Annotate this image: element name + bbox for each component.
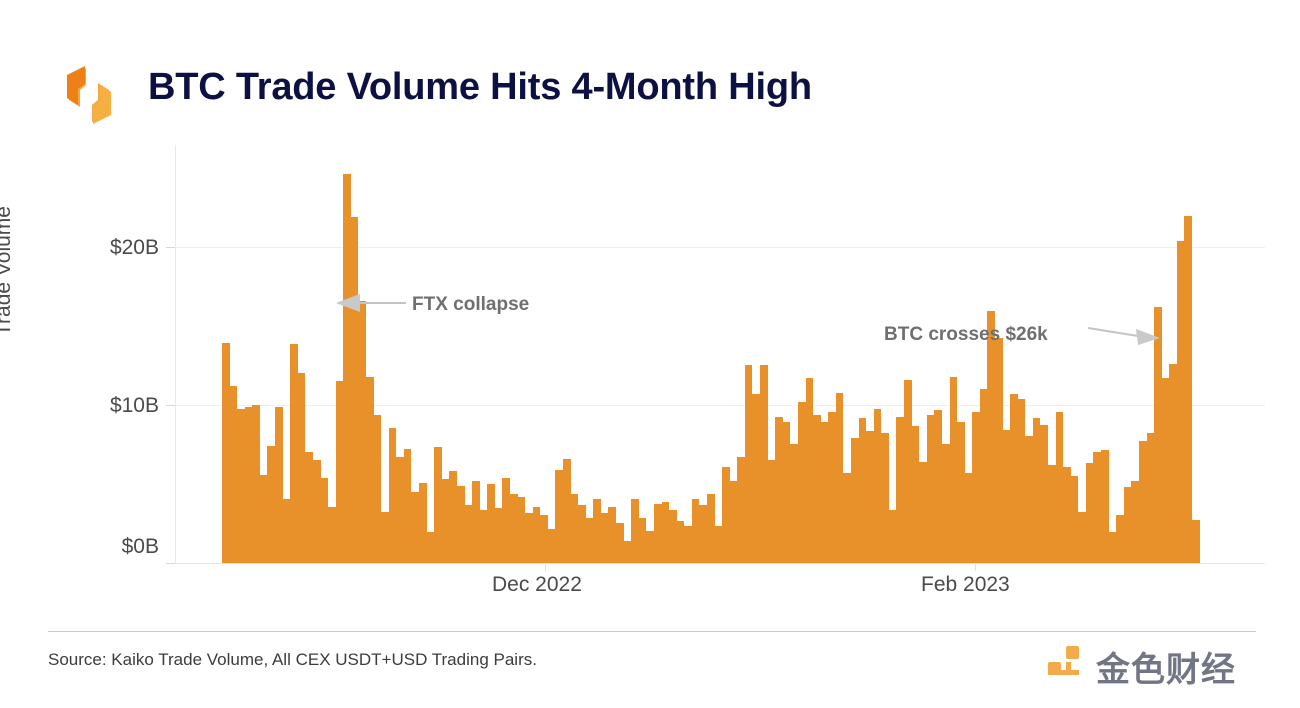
bar xyxy=(1078,512,1086,563)
bar xyxy=(1101,450,1109,563)
bar xyxy=(828,412,836,563)
bar xyxy=(919,462,927,563)
bar xyxy=(419,483,427,563)
bar xyxy=(1139,441,1147,563)
bar xyxy=(737,457,745,563)
bar xyxy=(237,409,245,563)
bar xyxy=(283,499,291,563)
bar xyxy=(1154,307,1162,563)
annotation-btc-crosses-26k: BTC crosses $26k xyxy=(884,324,1048,346)
bar xyxy=(533,507,541,563)
bar xyxy=(351,217,359,563)
bar xyxy=(851,438,859,563)
bar xyxy=(639,518,647,563)
bar xyxy=(449,471,457,563)
bar xyxy=(1177,241,1185,563)
bar xyxy=(646,531,654,563)
bar xyxy=(548,529,556,563)
bar xyxy=(495,508,503,563)
bar xyxy=(1124,487,1132,563)
chart-container: $20B $10B $0B Trade Volume Dec 2022 Feb … xyxy=(0,140,1300,610)
xtick-mark-dec2022 xyxy=(545,563,546,571)
x-axis-line xyxy=(175,563,1265,564)
bar xyxy=(806,378,814,563)
bar xyxy=(465,505,473,563)
bar xyxy=(1131,481,1139,563)
bar xyxy=(1010,394,1018,563)
bar xyxy=(692,499,700,563)
bar xyxy=(1025,436,1033,563)
bar xyxy=(662,502,670,563)
bar xyxy=(942,444,950,563)
bar xyxy=(707,494,715,563)
bar xyxy=(389,428,397,563)
jinse-logo-icon xyxy=(1046,640,1090,684)
ytick-label-10b: $10B xyxy=(110,394,159,418)
bar xyxy=(563,459,571,564)
bar xyxy=(677,521,685,563)
bar xyxy=(374,415,382,563)
annotation-arrow-left-icon xyxy=(334,292,408,314)
bar xyxy=(821,422,829,563)
bar xyxy=(593,499,601,563)
bar xyxy=(1093,452,1101,563)
jinse-finance-watermark: 金色财经 xyxy=(1046,640,1256,688)
bar xyxy=(1147,433,1155,563)
header: BTC Trade Volume Hits 4-Month High xyxy=(0,0,1300,150)
bar xyxy=(1162,378,1170,563)
ytick-mark-0b xyxy=(166,563,175,564)
bar xyxy=(343,174,351,563)
bar xyxy=(972,412,980,563)
ytick-mark-20b xyxy=(166,247,175,248)
bar xyxy=(252,405,260,563)
bar xyxy=(783,422,791,563)
bar xyxy=(434,447,442,563)
bar xyxy=(790,444,798,563)
bar xyxy=(624,541,632,564)
watermark-text: 金色财经 xyxy=(1096,642,1236,691)
bar xyxy=(912,426,920,563)
bar xyxy=(1116,515,1124,563)
bar xyxy=(601,513,609,563)
bar xyxy=(540,515,548,563)
bar xyxy=(813,415,821,563)
bar xyxy=(1048,465,1056,563)
bar xyxy=(896,417,904,563)
bar xyxy=(1040,425,1048,563)
ytick-label-20b: $20B xyxy=(110,236,159,260)
bar xyxy=(1056,412,1064,563)
bar xyxy=(1109,532,1117,563)
bar xyxy=(396,457,404,563)
bar xyxy=(874,409,882,563)
kaiko-logo-icon xyxy=(54,60,124,130)
bar xyxy=(321,478,329,563)
bar xyxy=(950,377,958,563)
ytick-mark-10b xyxy=(166,405,175,406)
source-note: Source: Kaiko Trade Volume, All CEX USDT… xyxy=(48,650,537,670)
bar xyxy=(260,475,268,563)
bar xyxy=(752,394,760,563)
bar xyxy=(1018,399,1026,563)
bar xyxy=(267,446,275,563)
bar xyxy=(518,497,526,563)
bar xyxy=(366,377,374,563)
bar xyxy=(745,365,753,563)
bar xyxy=(722,467,730,563)
bar xyxy=(684,526,692,563)
bar xyxy=(836,393,844,563)
bar xyxy=(1033,418,1041,563)
page-title: BTC Trade Volume Hits 4-Month High xyxy=(148,66,812,109)
y-axis-line xyxy=(175,145,176,563)
bar xyxy=(1071,476,1079,563)
bar xyxy=(525,513,533,563)
bar xyxy=(480,510,488,563)
bar xyxy=(1169,364,1177,563)
bar xyxy=(881,433,889,563)
xtick-mark-feb2023 xyxy=(975,563,976,571)
bar xyxy=(669,510,677,563)
bar xyxy=(927,415,935,563)
annotation-arrow-right-icon xyxy=(1086,323,1162,345)
bar xyxy=(699,505,707,563)
annotation-ftx-collapse: FTX collapse xyxy=(412,294,529,316)
bar xyxy=(275,407,283,563)
bar xyxy=(427,532,435,563)
bar xyxy=(1063,467,1071,563)
bar xyxy=(381,512,389,563)
bar xyxy=(1086,463,1094,563)
footer-divider xyxy=(48,631,1256,632)
bar xyxy=(730,481,738,563)
bar xyxy=(328,507,336,563)
bar xyxy=(222,343,230,563)
bar-series xyxy=(222,145,1200,563)
bar xyxy=(760,365,768,563)
xtick-label-feb2023: Feb 2023 xyxy=(921,573,1010,597)
bar xyxy=(457,486,465,563)
bar xyxy=(775,417,783,563)
y-axis-title: Trade Volume xyxy=(0,206,16,336)
bar xyxy=(336,381,344,563)
bar xyxy=(616,523,624,563)
bar xyxy=(631,499,639,563)
bar xyxy=(654,504,662,563)
bar xyxy=(571,494,579,563)
bar xyxy=(442,479,450,563)
bar xyxy=(768,460,776,563)
bar xyxy=(472,481,480,563)
bar xyxy=(859,418,867,563)
bar xyxy=(411,492,419,563)
bar xyxy=(313,460,321,563)
plot-area xyxy=(222,145,1200,563)
bar xyxy=(1003,430,1011,563)
bar xyxy=(608,507,616,563)
bar xyxy=(904,380,912,563)
bar xyxy=(510,494,518,563)
bar xyxy=(305,452,313,563)
bar xyxy=(866,431,874,563)
bar xyxy=(843,473,851,563)
bar xyxy=(715,526,723,563)
bar xyxy=(798,402,806,563)
bar xyxy=(1184,216,1192,563)
bar xyxy=(555,470,563,563)
bar xyxy=(987,311,995,563)
bar xyxy=(358,301,366,563)
bar xyxy=(1192,520,1200,563)
bar xyxy=(889,510,897,563)
bar xyxy=(230,386,238,563)
xtick-label-dec2022: Dec 2022 xyxy=(492,573,582,597)
bar xyxy=(934,410,942,563)
bar xyxy=(404,449,412,563)
bar xyxy=(298,373,306,563)
bar xyxy=(586,518,594,563)
bar xyxy=(980,389,988,563)
bar xyxy=(245,407,253,563)
bar xyxy=(995,338,1003,563)
bar xyxy=(957,422,965,563)
bar xyxy=(578,505,586,563)
bar xyxy=(487,484,495,563)
bar xyxy=(290,344,298,563)
ytick-label-0b: $0B xyxy=(122,535,159,559)
bar xyxy=(965,473,973,563)
bar xyxy=(502,478,510,563)
